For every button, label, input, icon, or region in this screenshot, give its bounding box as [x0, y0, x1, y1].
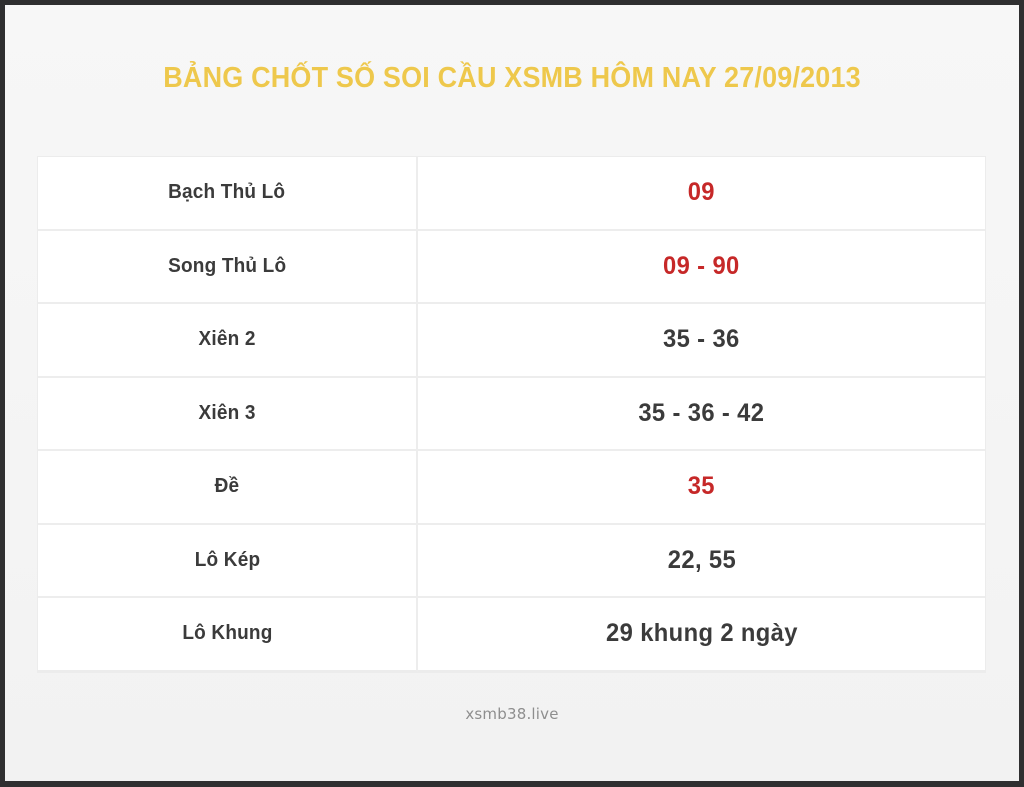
- row-value-cell: 35 - 36 - 42: [418, 378, 985, 452]
- row-value: 09: [688, 178, 715, 207]
- row-value: 29 khung 2 ngày: [606, 619, 798, 648]
- row-value: 09 - 90: [663, 252, 740, 281]
- title-bar: BẢNG CHỐT SỐ SOI CẦU XSMB HÔM NAY 27/09/…: [5, 5, 1019, 151]
- row-label-cell: Lô Khung: [38, 598, 418, 672]
- row-value-cell: 35 - 36: [418, 304, 985, 378]
- row-label: Xiên 3: [198, 402, 255, 425]
- table-row: Song Thủ Lô09 - 90: [38, 231, 985, 305]
- row-value: 35 - 36 - 42: [638, 399, 764, 428]
- page-frame: BẢNG CHỐT SỐ SOI CẦU XSMB HÔM NAY 27/09/…: [0, 0, 1024, 787]
- row-label-cell: Lô Kép: [38, 525, 418, 599]
- row-label: Xiên 2: [198, 328, 255, 351]
- row-label-cell: Đề: [38, 451, 418, 525]
- prediction-table-body: Bạch Thủ Lô09Song Thủ Lô09 - 90Xiên 235 …: [38, 157, 985, 672]
- footer: xsmb38.live: [5, 705, 1019, 724]
- row-label: Lô Khung: [182, 622, 272, 645]
- site-watermark: xsmb38.live: [465, 705, 558, 723]
- row-value: 22, 55: [667, 546, 735, 575]
- row-value-cell: 29 khung 2 ngày: [418, 598, 985, 672]
- table-row: Xiên 335 - 36 - 42: [38, 378, 985, 452]
- table-row: Lô Kép22, 55: [38, 525, 985, 599]
- page-title: BẢNG CHỐT SỐ SOI CẦU XSMB HÔM NAY 27/09/…: [163, 62, 861, 95]
- row-label-cell: Xiên 3: [38, 378, 418, 452]
- row-value: 35 - 36: [663, 325, 740, 354]
- row-value: 35: [688, 472, 715, 501]
- row-label-cell: Song Thủ Lô: [38, 231, 418, 305]
- row-label: Đề: [215, 475, 240, 498]
- content-card: BẢNG CHỐT SỐ SOI CẦU XSMB HÔM NAY 27/09/…: [5, 5, 1019, 781]
- table-row: Xiên 235 - 36: [38, 304, 985, 378]
- table-row: Lô Khung29 khung 2 ngày: [38, 598, 985, 672]
- prediction-table: Bạch Thủ Lô09Song Thủ Lô09 - 90Xiên 235 …: [38, 157, 985, 672]
- row-label: Lô Kép: [194, 549, 260, 572]
- row-label: Song Thủ Lô: [168, 255, 286, 278]
- row-value-cell: 09 - 90: [418, 231, 985, 305]
- row-value-cell: 22, 55: [418, 525, 985, 599]
- row-label-cell: Bạch Thủ Lô: [38, 157, 418, 231]
- row-label-cell: Xiên 2: [38, 304, 418, 378]
- table-row: Đề35: [38, 451, 985, 525]
- row-value-cell: 35: [418, 451, 985, 525]
- table-row: Bạch Thủ Lô09: [38, 157, 985, 231]
- row-value-cell: 09: [418, 157, 985, 231]
- row-label: Bạch Thủ Lô: [168, 181, 285, 204]
